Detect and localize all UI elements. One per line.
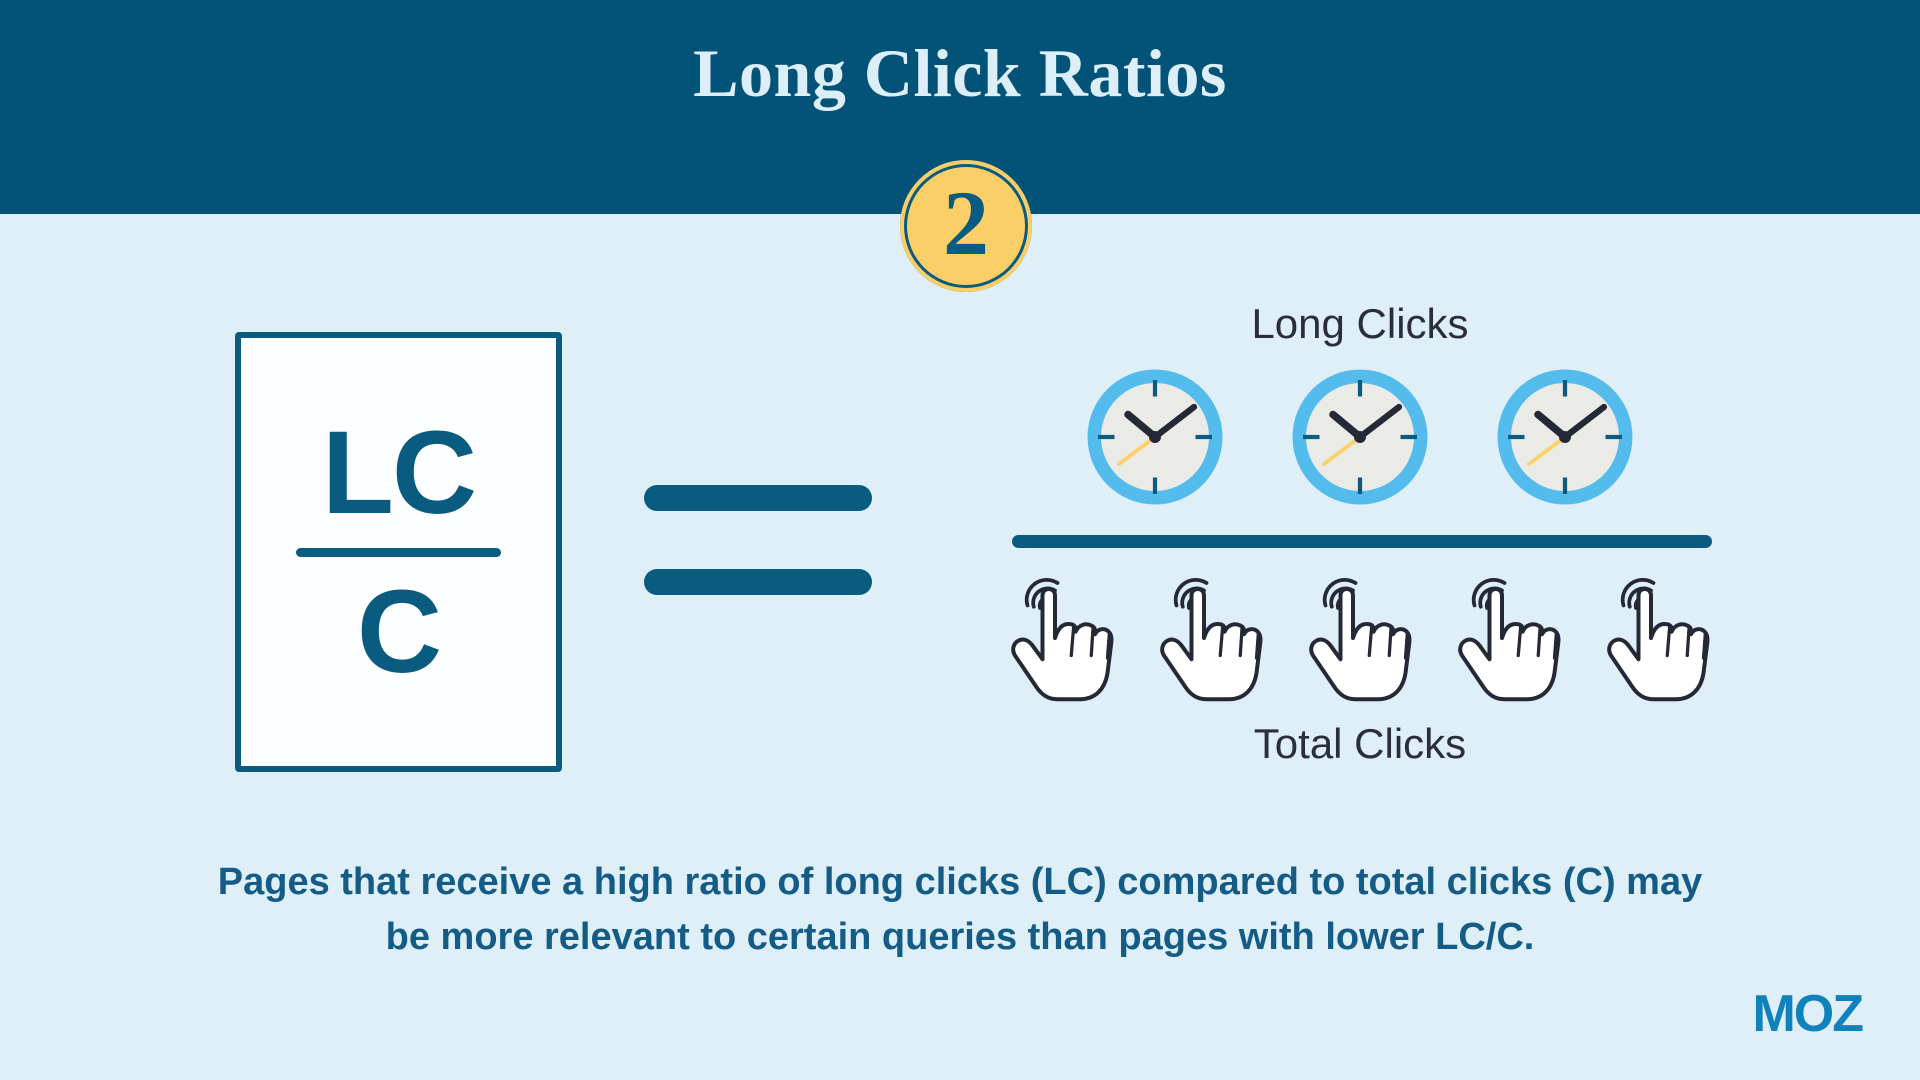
formula-denominator: C [357,573,440,691]
clock-icon [1490,362,1640,512]
step-number-label: 2 [943,177,989,269]
tap-hand-icon [1000,568,1125,708]
ratio-visual: Long Clicks [980,300,1740,770]
equals-bar-top [644,485,872,511]
total-clicks-label: Total Clicks [980,720,1740,768]
page-title: Long Click Ratios [0,38,1920,109]
caption: Pages that receive a high ratio of long … [120,855,1800,965]
tap-hand-icon [1596,568,1721,708]
tap-hand-icon [1447,568,1572,708]
caption-line-1: Pages that receive a high ratio of long … [120,855,1800,910]
formula-card: LC C [235,332,562,772]
tap-hand-icon [1149,568,1274,708]
step-number-badge: 2 [900,160,1032,292]
equals-sign-icon [644,485,872,595]
clock-icon [1285,362,1435,512]
formula-numerator: LC [322,414,475,532]
ratio-fraction-bar [1012,535,1712,548]
formula-fraction-bar [296,548,501,557]
hand-row [980,568,1740,708]
clock-row [980,362,1740,512]
tap-hand-icon [1298,568,1423,708]
moz-logo: MOZ [1752,984,1862,1044]
long-clicks-label: Long Clicks [980,300,1740,348]
caption-line-2: be more relevant to certain queries than… [120,910,1800,965]
infographic-canvas: Long Click Ratios 2 LC C Long Clicks [0,0,1920,1080]
equals-bar-bottom [644,569,872,595]
clock-icon [1080,362,1230,512]
